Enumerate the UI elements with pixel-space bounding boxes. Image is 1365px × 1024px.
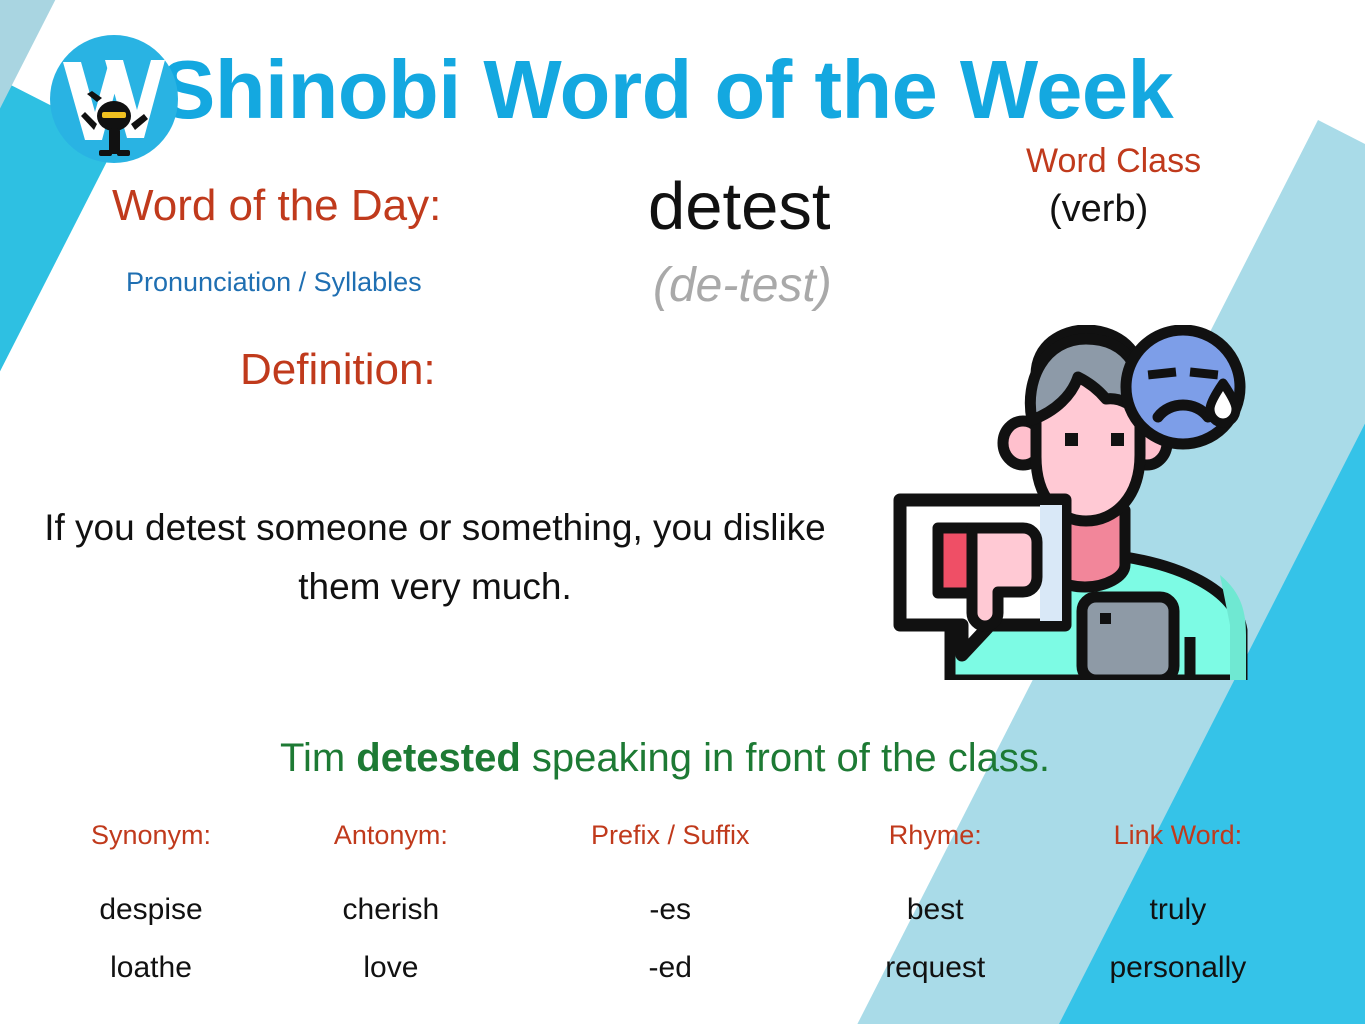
cell-prefix-suffix-2: -ed — [508, 939, 833, 997]
eye-right — [1111, 433, 1124, 446]
cell-link-word-2: personally — [1038, 939, 1318, 997]
example-after: speaking in front of the class. — [521, 736, 1050, 780]
cell-antonym-1: cherish — [274, 881, 508, 939]
word-class-label: Word Class — [1026, 142, 1201, 181]
cell-rhyme-2: request — [833, 939, 1038, 997]
column-header-synonym: Synonym: — [28, 820, 274, 881]
word-details-table: Synonym: Antonym: Prefix / Suffix Rhyme:… — [28, 820, 1318, 997]
column-header-link-word: Link Word: — [1038, 820, 1318, 881]
cell-antonym-2: love — [274, 939, 508, 997]
column-header-rhyme: Rhyme: — [833, 820, 1038, 881]
cell-rhyme-1: best — [833, 881, 1038, 939]
column-header-antonym: Antonym: — [274, 820, 508, 881]
example-bold-word: detested — [356, 736, 521, 780]
eye-left — [1065, 433, 1078, 446]
table-header-row: Synonym: Antonym: Prefix / Suffix Rhyme:… — [28, 820, 1318, 881]
cell-synonym-1: despise — [28, 881, 274, 939]
smartphone-icon — [1082, 597, 1174, 680]
example-sentence: Tim detested speaking in front of the cl… — [0, 736, 1330, 781]
sad-person-thumbs-down-illustration — [890, 325, 1285, 680]
cell-prefix-suffix-1: -es — [508, 881, 833, 939]
example-before: Tim — [280, 736, 356, 780]
definition-label: Definition: — [240, 345, 436, 395]
ninja-logo-icon — [47, 32, 181, 166]
cell-link-word-1: truly — [1038, 881, 1318, 939]
word-of-the-day-label: Word of the Day: — [112, 181, 441, 231]
pronunciation-label: Pronunciation / Syllables — [126, 267, 422, 298]
slide-canvas: Shinobi Word of the Week Word of the Day… — [0, 0, 1365, 1024]
definition-text: If you detest someone or something, you … — [40, 498, 830, 616]
word-class-value: (verb) — [1049, 188, 1148, 231]
page-title: Shinobi Word of the Week — [160, 42, 1173, 138]
table-row: despise cherish -es best truly — [28, 881, 1318, 939]
sad-face-emoji-icon — [1126, 330, 1240, 444]
column-header-prefix-suffix: Prefix / Suffix — [508, 820, 833, 881]
table-row: loathe love -ed request personally — [28, 939, 1318, 997]
pronunciation-value: (de-test) — [653, 258, 832, 313]
cell-synonym-2: loathe — [28, 939, 274, 997]
headword-value: detest — [648, 168, 831, 245]
